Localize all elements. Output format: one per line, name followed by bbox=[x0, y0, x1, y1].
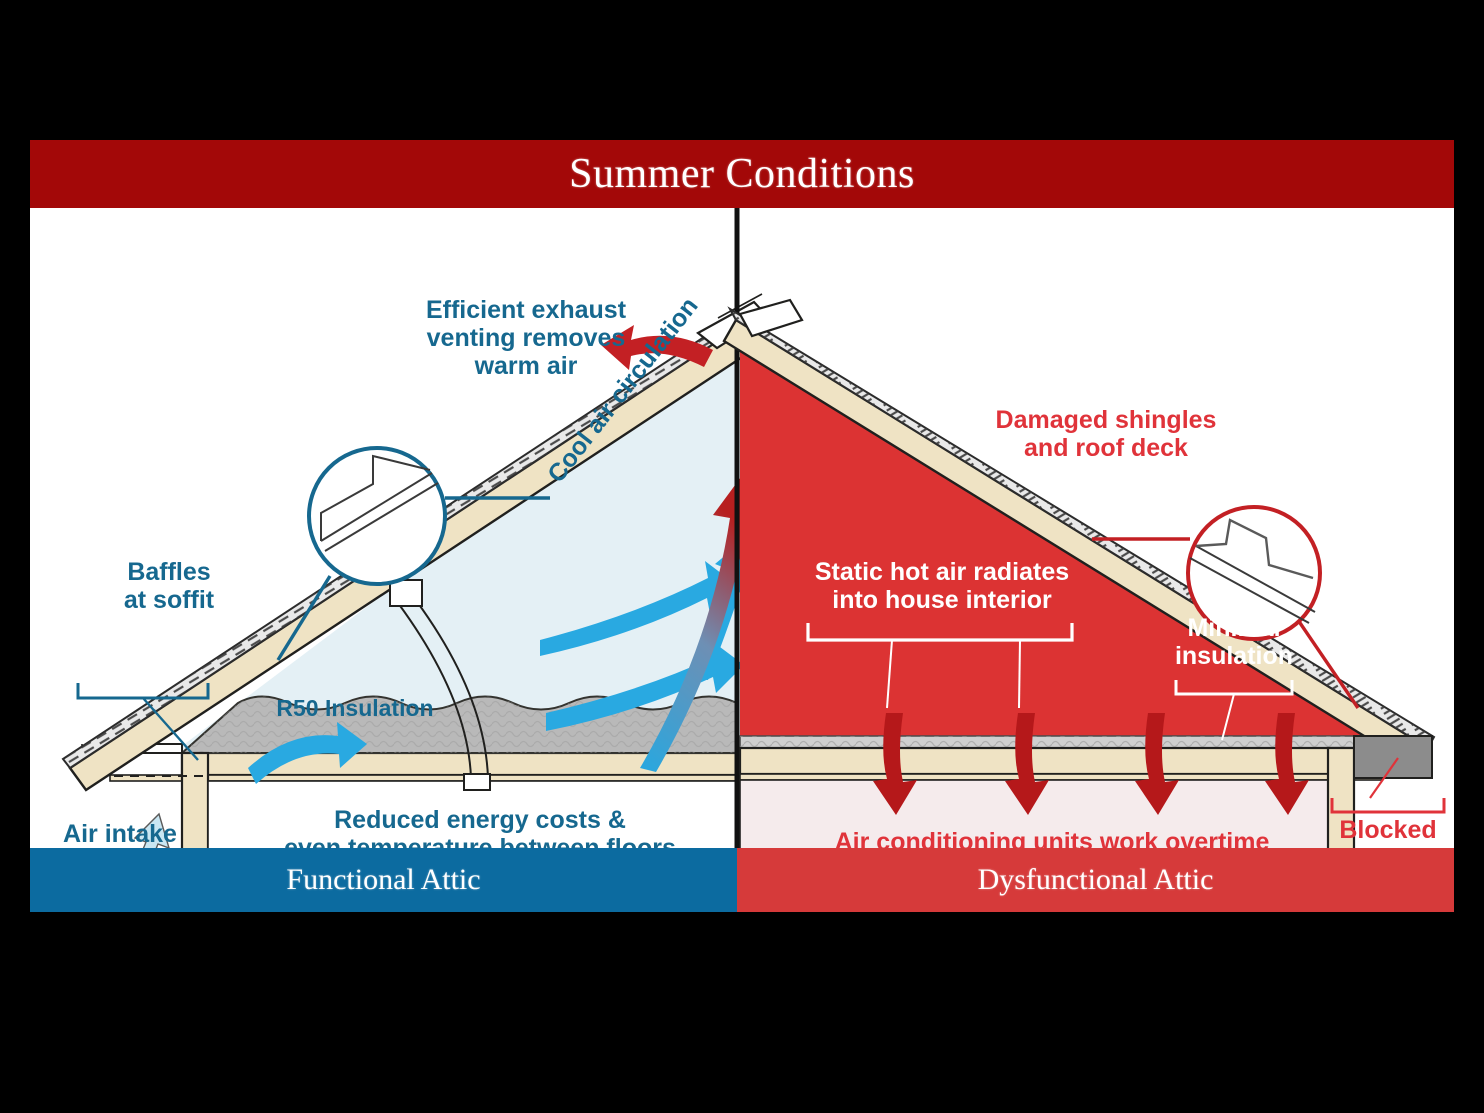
label-efficient-exhaust: Efficient exhaust venting removes warm a… bbox=[408, 296, 644, 380]
panel-legend-banners: Functional Attic Dysfunctional Attic bbox=[30, 848, 1454, 912]
attic-cross-section-diagram: Efficient exhaust venting removes warm a… bbox=[30, 208, 1454, 848]
page-title: Summer Conditions bbox=[569, 150, 915, 198]
label-r50-insulation: R50 Insulation bbox=[225, 696, 485, 722]
right-blocked-soffit bbox=[1354, 736, 1432, 778]
label-minimal-insulation: Minimal insulation bbox=[1170, 614, 1298, 670]
label-right-outcome: Air conditioning units work overtime bbox=[812, 828, 1292, 848]
label-damaged-shingles: Damaged shingles and roof deck bbox=[978, 406, 1234, 462]
dysfunctional-attic-label: Dysfunctional Attic bbox=[978, 863, 1214, 897]
label-static-hot-air: Static hot air radiates into house inter… bbox=[802, 558, 1082, 614]
diagram-stage: Summer Conditions bbox=[0, 0, 1484, 1113]
functional-attic-banner: Functional Attic bbox=[30, 848, 737, 912]
attic-illustration bbox=[30, 208, 1454, 848]
label-blocked-soffits: Blocked soffits bbox=[1328, 816, 1448, 848]
label-baffles-at-soffit: Baffles at soffit bbox=[94, 558, 244, 614]
label-air-intake-at-soffits: Air intake at soffits bbox=[40, 820, 200, 848]
diagram-frame: Summer Conditions bbox=[30, 140, 1454, 912]
label-left-outcome: Reduced energy costs & even temperature … bbox=[270, 806, 690, 848]
title-banner: Summer Conditions bbox=[30, 140, 1454, 208]
functional-attic-label: Functional Attic bbox=[286, 863, 480, 897]
dysfunctional-attic-banner: Dysfunctional Attic bbox=[737, 848, 1454, 912]
